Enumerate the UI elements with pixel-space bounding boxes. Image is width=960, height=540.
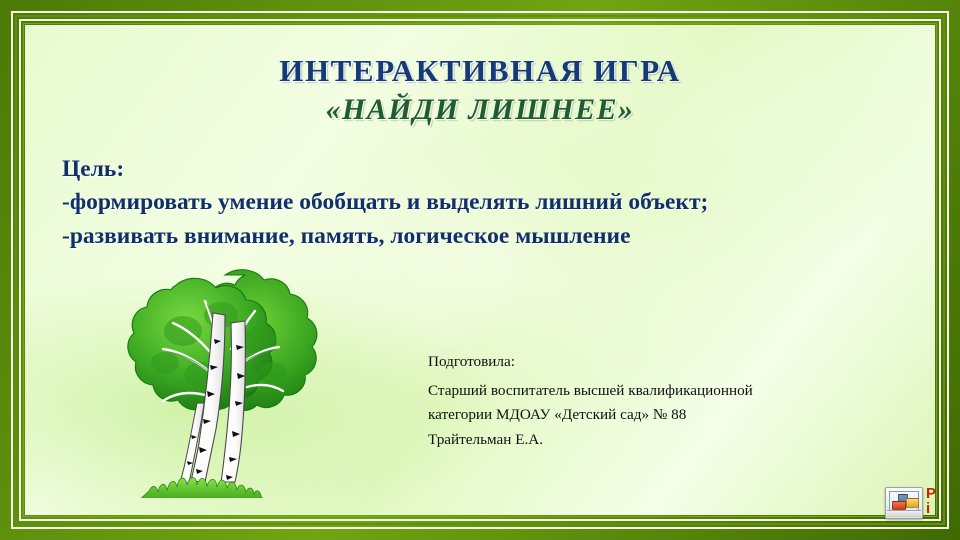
author-lead: Подготовила: [428,350,848,375]
tree-grass [138,478,264,499]
embedded-object-label: P i [926,486,960,517]
icon-block-yellow [906,498,919,508]
icon-block-red [892,501,906,510]
title-line-2: «НАЙДИ ЛИШНЕЕ» [25,92,935,128]
title-line-1: ИНТЕРАКТИВНАЯ ИГРА [25,54,935,89]
goal-item-2: -развивать внимание, память, логическое … [62,220,822,253]
author-line-3: Трайтельман Е.А. [428,428,848,453]
icon-base [887,510,921,517]
slide-title: ИНТЕРАКТИВНАЯ ИГРА «НАЙДИ ЛИШНЕЕ» [25,54,935,128]
presentation-object-icon[interactable] [885,487,923,519]
goal-item-1: -формировать умение обобщать и выделять … [62,186,822,219]
embed-label-line-2: i [926,501,960,516]
presentation-slide: ИНТЕРАКТИВНАЯ ИГРА «НАЙДИ ЛИШНЕЕ» Цель: … [0,0,960,540]
author-line-1: Старший воспитатель высшей квалификацион… [428,379,848,404]
birch-tree-illustration [113,253,323,498]
goal-heading: Цель: [62,153,822,186]
goal-block: Цель: -формировать умение обобщать и выд… [62,153,822,253]
author-line-2: категории МДОАУ «Детский сад» № 88 [428,403,848,428]
embed-label-line-1: P [926,486,960,501]
slide-canvas: ИНТЕРАКТИВНАЯ ИГРА «НАЙДИ ЛИШНЕЕ» Цель: … [25,25,935,515]
icon-screen [889,491,919,511]
author-block: Подготовила:Старший воспитатель высшей к… [428,350,848,453]
